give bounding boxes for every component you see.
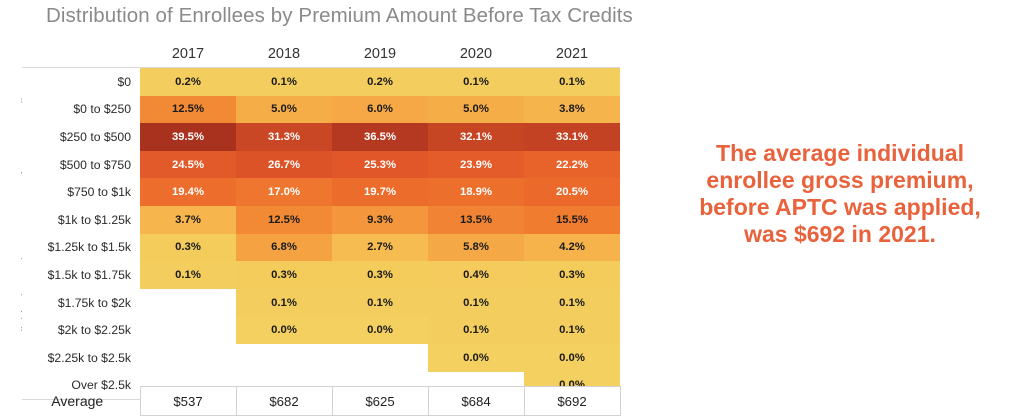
heatmap-cell: [140, 316, 236, 344]
heatmap-cell: 39.5%: [140, 123, 236, 151]
heatmap-cell: 3.7%: [140, 206, 236, 234]
heatmap-cell: 5.0%: [428, 96, 524, 124]
row-label: $1.25k to $1.5k: [22, 234, 140, 262]
heatmap-cell: [332, 344, 428, 372]
heatmap-cell: [140, 344, 236, 372]
heatmap-cell: 24.5%: [140, 151, 236, 179]
heatmap-cell: [236, 344, 332, 372]
table-row: $1.75k to $2k0.1%0.1%0.1%0.1%: [22, 289, 620, 317]
heatmap-cell: 0.1%: [140, 261, 236, 289]
callout-line-1: The average individual: [664, 140, 1016, 167]
heatmap-cell: 0.1%: [428, 289, 524, 317]
heatmap-cell: 31.3%: [236, 123, 332, 151]
table-row: $1k to $1.25k3.7%12.5%9.3%13.5%15.5%: [22, 206, 620, 234]
heatmap-cell: 0.2%: [332, 68, 428, 96]
heatmap-cell: 33.1%: [524, 123, 620, 151]
column-header-year: 2021: [524, 40, 620, 68]
heatmap-cell: 0.1%: [524, 289, 620, 317]
heatmap-cell: 0.3%: [236, 261, 332, 289]
table-row: $1.5k to $1.75k0.1%0.3%0.3%0.4%0.3%: [22, 261, 620, 289]
average-cell: $692: [524, 387, 620, 416]
heatmap-cell: 0.1%: [428, 68, 524, 96]
heatmap-cell: 4.2%: [524, 234, 620, 262]
heatmap-cell: 0.0%: [524, 344, 620, 372]
average-cell: $682: [236, 387, 332, 416]
average-cell: $684: [428, 387, 524, 416]
column-header-year: 2017: [140, 40, 236, 68]
heatmap-cell: 26.7%: [236, 151, 332, 179]
heatmap-cell: 2.7%: [332, 234, 428, 262]
heatmap-cell: 0.0%: [428, 344, 524, 372]
heatmap-header-row: 20172018201920202021: [22, 40, 620, 68]
heatmap-cell: 12.5%: [236, 206, 332, 234]
callout-line-4: was $692 in 2021.: [664, 221, 1016, 248]
table-row: Average $537$682$625$684$692: [22, 387, 620, 416]
average-label: Average: [22, 387, 140, 416]
heatmap-cell: 0.1%: [428, 316, 524, 344]
heatmap-cell: 17.0%: [236, 178, 332, 206]
table-row: $500 to $75024.5%26.7%25.3%23.9%22.2%: [22, 151, 620, 179]
heatmap-cell: 23.9%: [428, 151, 524, 179]
heatmap-cell: 25.3%: [332, 151, 428, 179]
row-label: $1k to $1.25k: [22, 206, 140, 234]
heatmap-cell: 0.2%: [140, 68, 236, 96]
heatmap-cell: 0.0%: [332, 316, 428, 344]
table-row: $0 to $25012.5%5.0%6.0%5.0%3.8%: [22, 96, 620, 124]
heatmap-cell: 0.3%: [332, 261, 428, 289]
heatmap-corner: [22, 40, 140, 68]
heatmap-cell: 9.3%: [332, 206, 428, 234]
average-cell: $537: [140, 387, 236, 416]
heatmap-cell: 22.2%: [524, 151, 620, 179]
heatmap-cell: 6.0%: [332, 96, 428, 124]
heatmap-cell: 32.1%: [428, 123, 524, 151]
page-title: Distribution of Enrollees by Premium Amo…: [46, 4, 633, 28]
heatmap-cell: [140, 289, 236, 317]
heatmap-cell: 0.1%: [236, 68, 332, 96]
table-row: $2.25k to $2.5k0.0%0.0%: [22, 344, 620, 372]
heatmap-cell: 0.0%: [236, 316, 332, 344]
heatmap-cell: 0.1%: [236, 289, 332, 317]
heatmap-cell: 0.1%: [332, 289, 428, 317]
heatmap-body: $00.2%0.1%0.2%0.1%0.1%$0 to $25012.5%5.0…: [22, 68, 620, 400]
row-label: $1.5k to $1.75k: [22, 261, 140, 289]
row-label: $750 to $1k: [22, 178, 140, 206]
table-row: $250 to $50039.5%31.3%36.5%32.1%33.1%: [22, 123, 620, 151]
heatmap-chart: 20172018201920202021 $00.2%0.1%0.2%0.1%0…: [22, 40, 620, 400]
heatmap-cell: 18.9%: [428, 178, 524, 206]
heatmap-cell: 19.4%: [140, 178, 236, 206]
heatmap-cell: 0.1%: [524, 68, 620, 96]
callout-line-2: enrollee gross premium,: [664, 167, 1016, 194]
column-header-year: 2019: [332, 40, 428, 68]
heatmap-cell: 0.4%: [428, 261, 524, 289]
heatmap-cell: 0.3%: [140, 234, 236, 262]
callout-text: The average individual enrollee gross pr…: [664, 140, 1016, 248]
row-label: $500 to $750: [22, 151, 140, 179]
heatmap-cell: 19.7%: [332, 178, 428, 206]
heatmap-cell: 15.5%: [524, 206, 620, 234]
table-row: $2k to $2.25k0.0%0.0%0.1%0.1%: [22, 316, 620, 344]
heatmap-cell: 6.8%: [236, 234, 332, 262]
heatmap-cell: 20.5%: [524, 178, 620, 206]
average-row-wrap: Average $537$682$625$684$692: [22, 386, 620, 416]
heatmap-cell: 36.5%: [332, 123, 428, 151]
row-label: $0: [22, 68, 140, 96]
callout-line-3: before APTC was applied,: [664, 194, 1016, 221]
column-header-year: 2018: [236, 40, 332, 68]
heatmap-cell: 13.5%: [428, 206, 524, 234]
table-row: $00.2%0.1%0.2%0.1%0.1%: [22, 68, 620, 96]
row-label: $250 to $500: [22, 123, 140, 151]
average-table: Average $537$682$625$684$692: [22, 386, 621, 416]
row-label: $2.25k to $2.5k: [22, 344, 140, 372]
heatmap-cell: 5.0%: [236, 96, 332, 124]
row-label: $1.75k to $2k: [22, 289, 140, 317]
column-header-year: 2020: [428, 40, 524, 68]
average-cell: $625: [332, 387, 428, 416]
row-label: $0 to $250: [22, 96, 140, 124]
heatmap-cell: 0.3%: [524, 261, 620, 289]
heatmap-cell: 0.1%: [524, 316, 620, 344]
heatmap-table: 20172018201920202021 $00.2%0.1%0.2%0.1%0…: [22, 40, 620, 400]
heatmap-cell: 3.8%: [524, 96, 620, 124]
table-row: $1.25k to $1.5k0.3%6.8%2.7%5.8%4.2%: [22, 234, 620, 262]
heatmap-cell: 12.5%: [140, 96, 236, 124]
heatmap-cell: 5.8%: [428, 234, 524, 262]
row-label: $2k to $2.25k: [22, 316, 140, 344]
table-row: $750 to $1k19.4%17.0%19.7%18.9%20.5%: [22, 178, 620, 206]
